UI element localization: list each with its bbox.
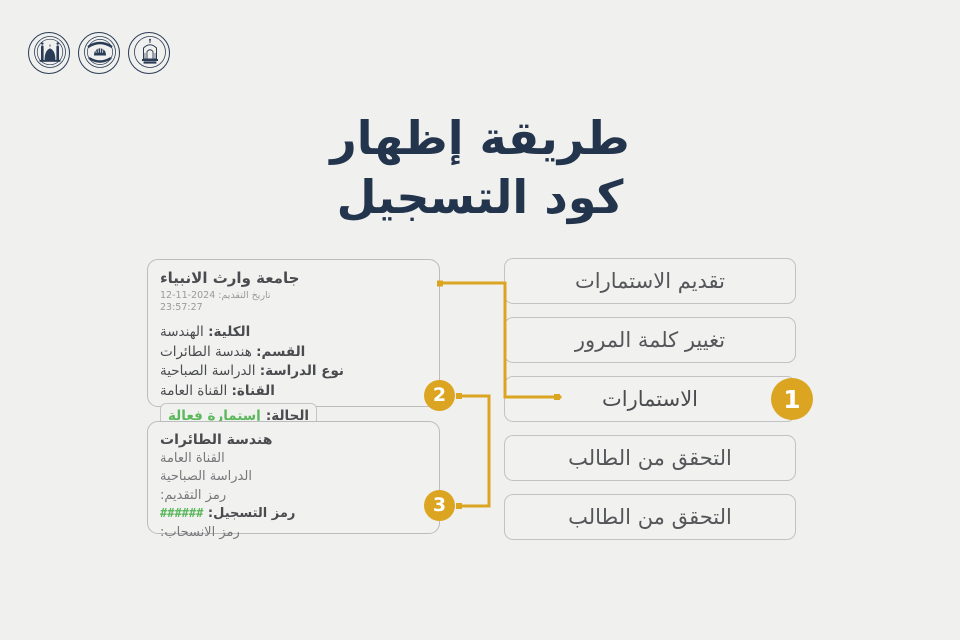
menu-item-verify-student-2[interactable]: التحقق من الطالب	[504, 494, 796, 540]
field-college-label: الكلية:	[208, 324, 250, 340]
register-code-label: رمز التسجيل:	[208, 506, 296, 521]
menu-item-label: التحقق من الطالب	[568, 505, 732, 529]
page-title: طريقة إظهار كود التسجيل	[0, 109, 960, 227]
register-code-row: رمز التسجيل: ######	[160, 505, 427, 523]
codes-department: هندسة الطائرات	[160, 431, 427, 450]
field-channel-value: القناة العامة	[160, 383, 227, 399]
menu-item-label: الاستمارات	[602, 387, 698, 411]
menu-item-label: تغيير كلمة المرور	[575, 328, 725, 352]
menu-item-label: تقديم الاستمارات	[575, 269, 725, 293]
seal-mosque-minarets-icon	[28, 32, 70, 74]
form-summary-card: جامعة وارث الانبياء تاريخ التقديم: 2024-…	[147, 259, 440, 407]
field-department: القسم: هندسة الطائرات	[160, 343, 427, 363]
field-department-value: هندسة الطائرات	[160, 344, 252, 360]
withdraw-code-label: رمز الانسحاب:	[160, 525, 240, 540]
withdraw-code-row: رمز الانسحاب:	[160, 524, 427, 542]
page-title-line-2: كود التسجيل	[0, 168, 960, 227]
step-badge-3: 3	[424, 490, 455, 521]
menu-item-change-password[interactable]: تغيير كلمة المرور	[504, 317, 796, 363]
university-name: جامعة وارث الانبياء	[160, 269, 427, 288]
field-department-label: القسم:	[256, 344, 305, 360]
field-study-type-label: نوع الدراسة:	[260, 363, 344, 379]
seal-university-dome-icon	[128, 32, 170, 74]
main-menu: تقديم الاستمارات تغيير كلمة المرور الاست…	[504, 258, 796, 540]
submit-date-label: تاريخ التقديم:	[218, 290, 270, 301]
codes-card: هندسة الطائرات القناة العامة الدراسة الص…	[147, 421, 440, 534]
step-badge-1: 1	[771, 378, 813, 420]
field-college-value: الهندسة	[160, 324, 204, 340]
field-college: الكلية: الهندسة	[160, 323, 427, 343]
register-code-value: ######	[160, 506, 203, 520]
submit-time-value: 23:57:27	[160, 302, 427, 314]
slide-canvas: طريقة إظهار كود التسجيل 1 2 3 تقديم الاس…	[0, 0, 960, 640]
field-channel: القناة: القناة العامة	[160, 382, 427, 402]
codes-channel: القناة العامة	[160, 450, 427, 468]
connector-lines	[0, 0, 960, 640]
submit-date-line: تاريخ التقديم: 2024-11-12	[160, 290, 427, 302]
page-title-line-1: طريقة إظهار	[0, 109, 960, 168]
submit-code-label: رمز التقديم:	[160, 488, 226, 503]
logo-group	[28, 32, 170, 74]
menu-item-label: التحقق من الطالب	[568, 446, 732, 470]
submit-date-value: 2024-11-12	[160, 290, 215, 301]
field-study-type-value: الدراسة الصباحية	[160, 363, 255, 379]
menu-item-forms[interactable]: الاستمارات	[504, 376, 796, 422]
seal-ministry-hand-icon	[78, 32, 120, 74]
submit-code-row: رمز التقديم:	[160, 487, 427, 505]
menu-item-verify-student-1[interactable]: التحقق من الطالب	[504, 435, 796, 481]
codes-study-type: الدراسة الصباحية	[160, 468, 427, 486]
step-badge-2: 2	[424, 380, 455, 411]
field-channel-label: القناة:	[232, 383, 275, 399]
menu-item-submit-forms[interactable]: تقديم الاستمارات	[504, 258, 796, 304]
field-study-type: نوع الدراسة: الدراسة الصباحية	[160, 362, 427, 382]
